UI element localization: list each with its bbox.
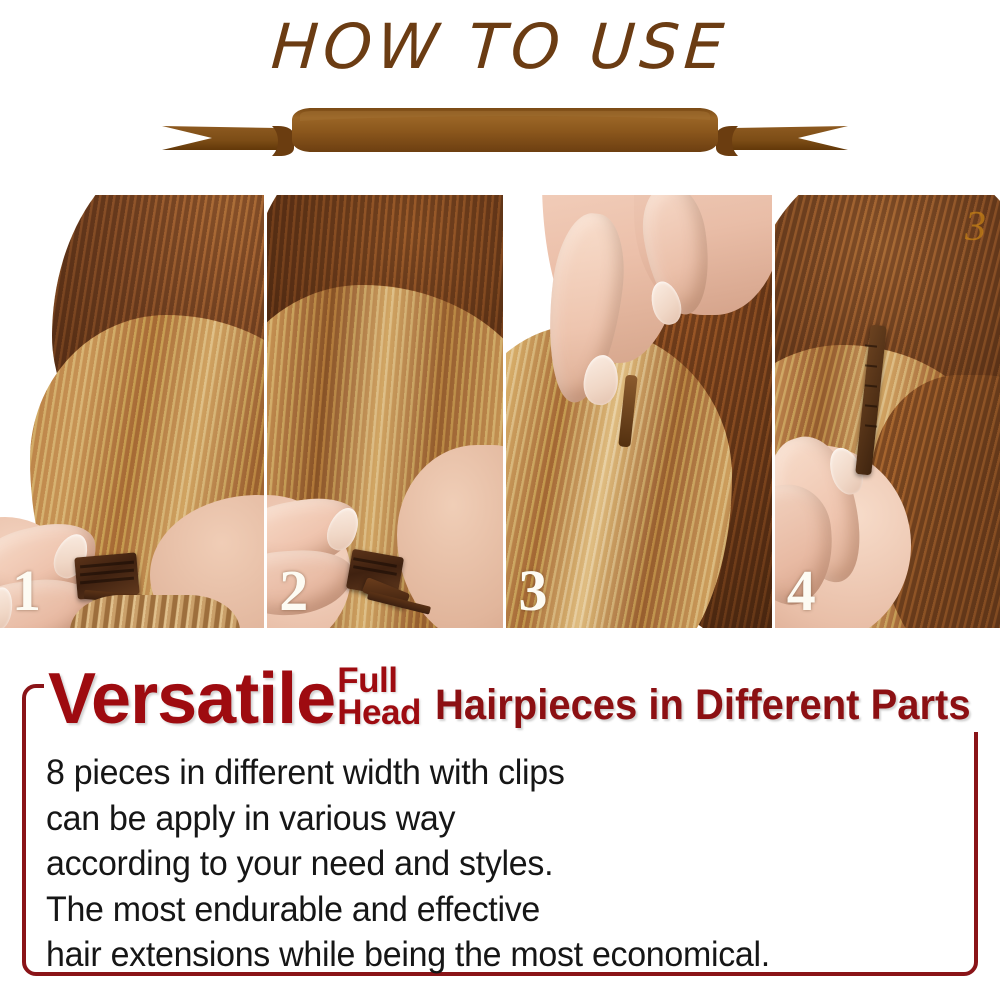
step-number-2: 2	[279, 562, 308, 620]
step-number-3: 3	[518, 562, 547, 620]
page-title: HOW TO USE	[0, 16, 1000, 78]
info-box: Versatile Full Head Hairpieces in Differ…	[22, 684, 978, 976]
body-line: according to your need and styles.	[46, 841, 935, 887]
heading-word-rest: Hairpieces in Different Parts	[435, 681, 971, 730]
header-block: HOW TO USE	[0, 0, 1000, 195]
body-line: 8 pieces in different width with clips	[46, 750, 935, 796]
heading-word-versatile: Versatile	[48, 666, 335, 732]
step-photo-4: 3 4	[775, 195, 1000, 628]
heading-word-head: Head	[337, 697, 421, 730]
step-photo-3: 3	[506, 195, 771, 628]
panel-watermark: 3	[965, 203, 986, 251]
body-line: The most endurable and effective	[46, 887, 935, 933]
step-number-1: 1	[12, 562, 41, 620]
info-body-copy: 8 pieces in different width with clips c…	[46, 750, 962, 978]
ribbon-banner-icon	[160, 104, 850, 160]
info-heading: Versatile Full Head Hairpieces in Differ…	[44, 646, 1000, 732]
body-line: hair extensions while being the most eco…	[46, 932, 935, 978]
step-photo-2: 2	[267, 195, 503, 628]
body-line: can be apply in various way	[46, 796, 935, 842]
step-photo-1: 1	[0, 195, 264, 628]
how-to-use-photo-strip: 1 2	[0, 195, 1000, 628]
heading-stack-full-head: Full Head	[337, 665, 421, 730]
step-number-4: 4	[787, 562, 816, 620]
